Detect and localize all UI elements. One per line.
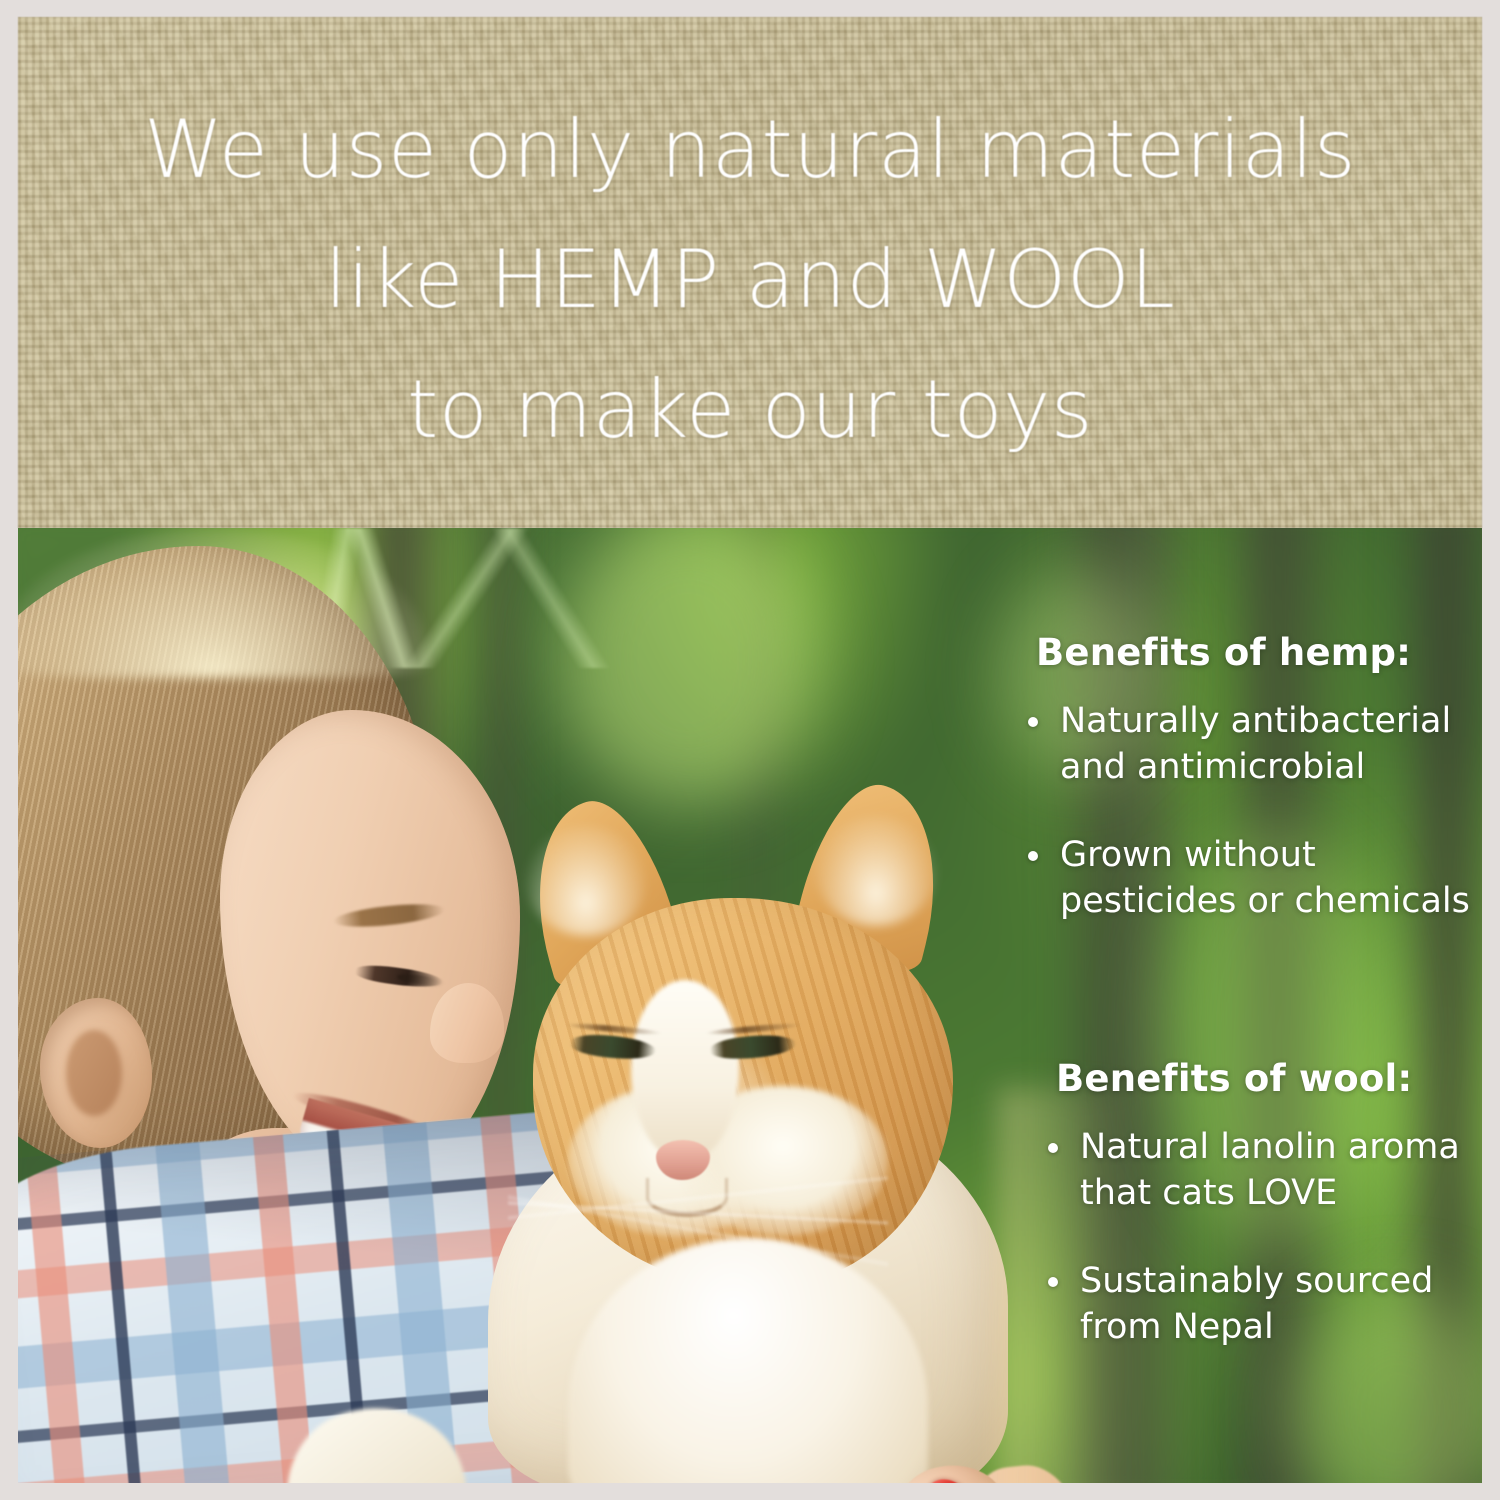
hero-photo: Benefits of hemp: Naturally antibacteria… (18, 528, 1482, 1483)
cat-muzzle-blaze (631, 980, 739, 1160)
hemp-benefits-block: Benefits of hemp: Naturally antibacteria… (1018, 630, 1482, 924)
headline-line-2: like HEMP and WOOL (325, 215, 1176, 345)
bullet-dot-icon (1028, 717, 1038, 727)
bullet-dot-icon (1048, 1143, 1058, 1153)
wool-benefits-block: Benefits of wool: Natural lanolin aroma … (1038, 1056, 1482, 1350)
promo-poster: We use only natural materials like HEMP … (0, 0, 1500, 1500)
hair-highlight (18, 528, 428, 678)
list-item: Natural lanolin aroma that cats LOVE (1038, 1124, 1482, 1216)
headline-container: We use only natural materials like HEMP … (18, 17, 1482, 528)
headline-line-3: to make our toys (407, 345, 1093, 475)
headline-line-1: We use only natural materials (144, 85, 1356, 215)
hemp-heading: Benefits of hemp: (1036, 630, 1482, 676)
hemp-bullet-list: Naturally antibacterial and antimicrobia… (1018, 698, 1482, 924)
list-item: Grown without pesticides or chemicals (1018, 832, 1482, 924)
list-item: Naturally antibacterial and antimicrobia… (1018, 698, 1482, 790)
wool-bullet-1-text: Natural lanolin aroma that cats LOVE (1080, 1124, 1482, 1216)
cat-ear-tuft (816, 816, 936, 926)
cat-ear-tuft (526, 826, 646, 936)
hemp-bullet-1-text: Naturally antibacterial and antimicrobia… (1060, 698, 1482, 790)
bullet-dot-icon (1028, 851, 1038, 861)
wool-bullet-2-text: Sustainably sourced from Nepal (1080, 1258, 1482, 1350)
wool-heading: Benefits of wool: (1056, 1056, 1482, 1102)
red-nail (916, 1470, 984, 1483)
burlap-banner: We use only natural materials like HEMP … (18, 17, 1482, 528)
list-item: Sustainably sourced from Nepal (1038, 1258, 1482, 1350)
wool-bullet-list: Natural lanolin aroma that cats LOVE Sus… (1038, 1124, 1482, 1350)
hemp-bullet-2-text: Grown without pesticides or chemicals (1060, 832, 1482, 924)
bullet-dot-icon (1048, 1277, 1058, 1287)
